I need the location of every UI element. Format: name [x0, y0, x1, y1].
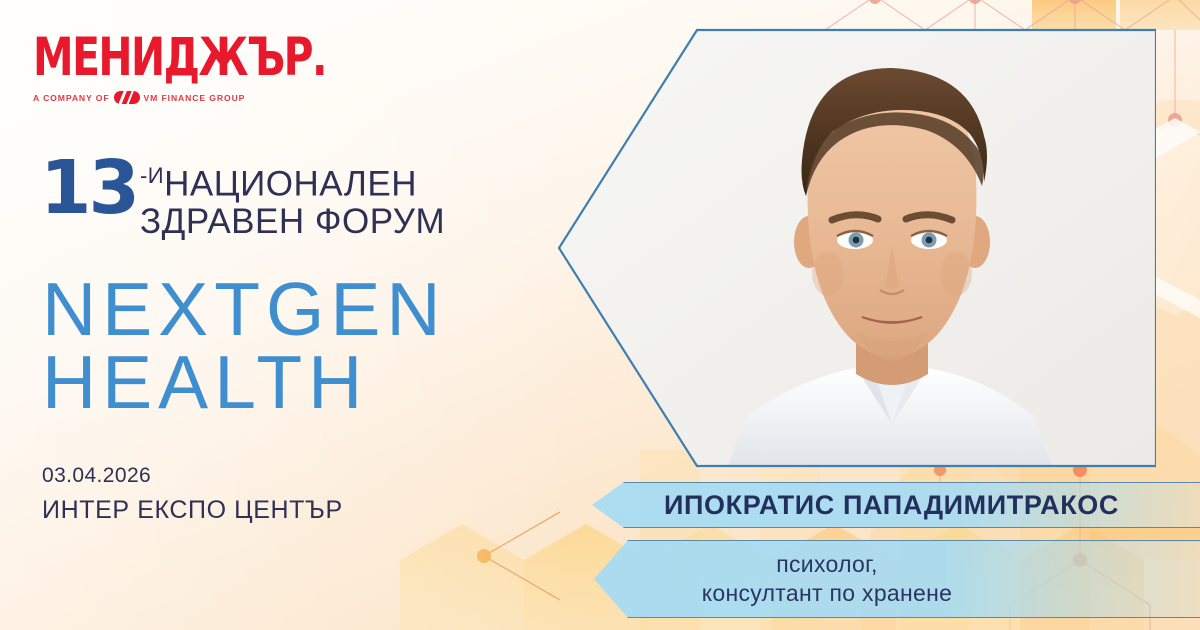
speaker-name-ribbon: ИПОКРАТИС ПАПАДИМИТРАКОС: [592, 482, 1200, 528]
speaker-role-line-1: психолог,: [594, 550, 1200, 579]
campaign-title-line-2: HEALTH: [42, 346, 447, 419]
speaker-role-line-2: консултант по хранене: [594, 579, 1200, 608]
forum-edition-number: 13: [40, 158, 137, 219]
logo-tagline-prefix: A COMPANY OF: [33, 93, 110, 103]
event-venue: ИНТЕР ЕКСПО ЦЕНТЪР: [42, 492, 343, 528]
forum-ordinal-suffix: -И: [140, 163, 164, 188]
speaker-role-ribbon: психолог, консултант по хранене: [594, 540, 1200, 618]
speaker-name: ИПОКРАТИС ПАПАДИМИТРАКОС: [664, 490, 1119, 521]
logo-tagline: A COMPANY OF VM FINANCE GROUP: [33, 91, 293, 104]
speaker-portrait-frame: [556, 24, 1156, 472]
speaker-portrait-photo: [556, 24, 1156, 472]
vm-monogram-icon: [114, 91, 140, 104]
forum-title-line-2: ЗДРАВЕН ФОРУМ: [140, 203, 445, 241]
forum-title-line-1: -ИНАЦИОНАЛЕН: [140, 164, 445, 203]
forum-title-word-1: НАЦИОНАЛЕН: [164, 165, 417, 204]
campaign-title-line-1: NEXTGEN: [42, 273, 447, 346]
menidzhar-logo: МЕНИДЖЪР. A COMPANY OF VM FINANCE GROUP: [33, 33, 293, 104]
campaign-title: NEXTGEN HEALTH: [42, 273, 447, 419]
logo-tagline-suffix: VM FINANCE GROUP: [144, 93, 246, 103]
event-promo-banner: МЕНИДЖЪР. A COMPANY OF VM FINANCE GROUP …: [0, 0, 1200, 630]
event-date: 03.04.2026: [42, 460, 343, 492]
forum-headline: 13 -ИНАЦИОНАЛЕН ЗДРАВЕН ФОРУМ: [40, 158, 445, 241]
logo-wordmark: МЕНИДЖЪР.: [33, 33, 298, 83]
event-details: 03.04.2026 ИНТЕР ЕКСПО ЦЕНТЪР: [42, 460, 343, 528]
